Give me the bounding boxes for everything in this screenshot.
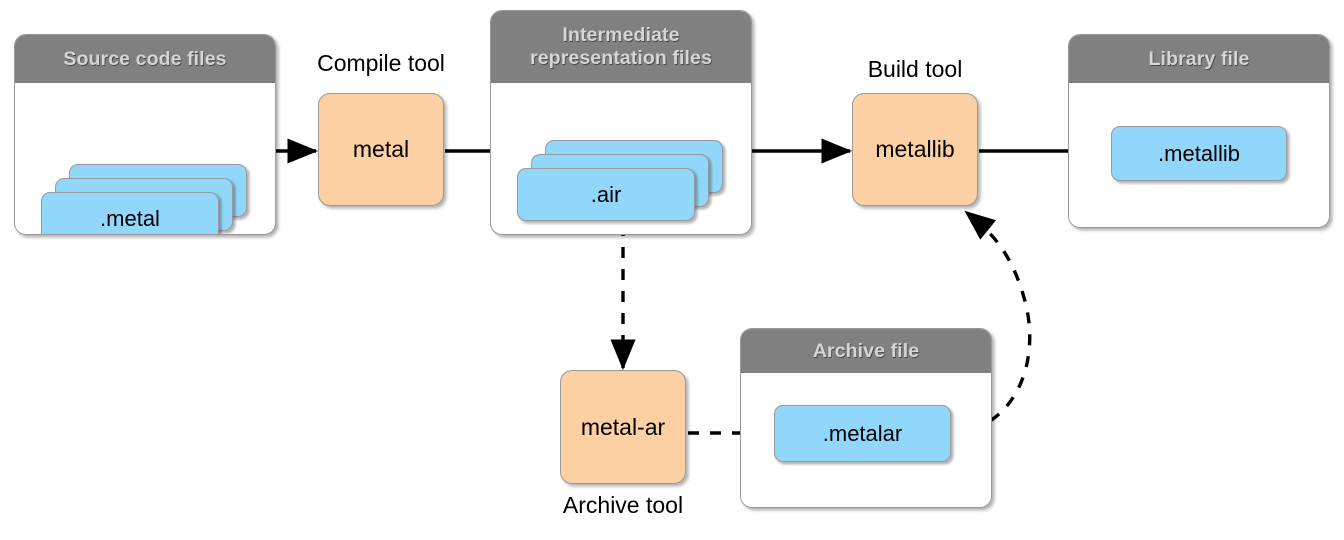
group-body-source-code-files: .metal [15, 83, 275, 235]
group-intermediate-representation-files[interactable]: Intermediate representation files .air [490, 10, 752, 235]
caption-build-tool: Build tool [835, 56, 995, 83]
group-body-intermediate-representation-files: .air [491, 83, 751, 235]
group-header-library-file: Library file [1069, 35, 1329, 83]
group-source-code-files[interactable]: Source code files .metal [14, 34, 276, 235]
file-chip-metallib[interactable]: .metallib [1111, 126, 1287, 181]
tool-label-metal-ar: metal-ar [581, 414, 665, 441]
tool-archive-metal-ar[interactable]: metal-ar [560, 370, 686, 484]
caption-compile-tool: Compile tool [301, 50, 461, 77]
group-body-archive-file: .metalar [741, 373, 991, 508]
tool-label-metallib: metallib [875, 136, 954, 163]
file-stack-air[interactable]: .air [491, 83, 751, 235]
file-chip-label-metal: .metal [100, 206, 160, 232]
group-header-archive-file: Archive file [741, 329, 991, 373]
file-chip-label-metalar: .metalar [823, 421, 902, 447]
file-chip-metal-front[interactable]: .metal [41, 192, 219, 235]
caption-archive-tool: Archive tool [543, 492, 703, 519]
file-chip-air-front[interactable]: .air [517, 168, 695, 221]
diagram-canvas: Source code files .metal Compile tool me… [0, 0, 1344, 540]
group-archive-file[interactable]: Archive file .metalar [740, 328, 992, 508]
tool-compile-metal[interactable]: metal [318, 93, 444, 206]
group-body-library-file: .metallib [1069, 83, 1329, 228]
tool-build-metallib[interactable]: metallib [852, 93, 978, 206]
group-header-intermediate-representation-files: Intermediate representation files [491, 11, 751, 83]
group-library-file[interactable]: Library file .metallib [1068, 34, 1330, 228]
file-chip-metalar[interactable]: .metalar [774, 405, 951, 462]
group-header-source-code-files: Source code files [15, 35, 275, 83]
file-chip-label-metallib: .metallib [1158, 141, 1240, 167]
tool-label-metal: metal [353, 136, 409, 163]
file-chip-label-air: .air [591, 182, 622, 208]
file-stack-metal[interactable]: .metal [15, 83, 275, 235]
